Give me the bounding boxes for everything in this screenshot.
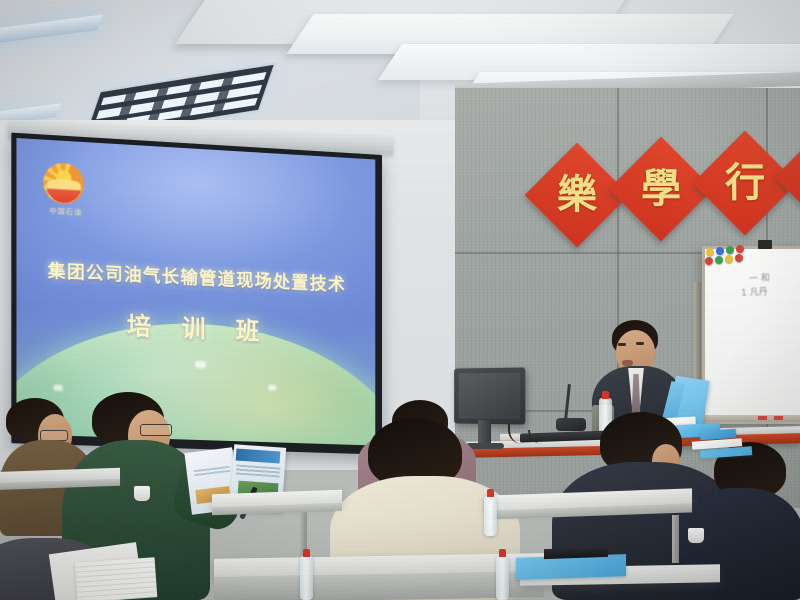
placard-char: 行 — [708, 146, 782, 220]
eyeglasses-icon — [140, 424, 172, 436]
whiteboard-magnet[interactable] — [725, 255, 733, 263]
cnpc-logo: 中国石油 — [43, 162, 86, 217]
whiteboard-magnet[interactable] — [735, 254, 743, 262]
water-bottle[interactable] — [484, 496, 497, 536]
whiteboard: 一 和 1 凡丹 — [702, 246, 800, 424]
cnpc-sunburst-icon — [43, 162, 84, 205]
whiteboard-marker-tray — [700, 415, 800, 422]
wall-placard-le: 樂 — [525, 143, 630, 248]
training-room-photo: 中国石油 集团公司油气长输管道现场处置技术 培 训 班 樂 學 行 樂 一 和 … — [0, 0, 800, 600]
whiteboard-clip — [758, 240, 772, 249]
water-bottle[interactable] — [300, 556, 313, 600]
whiteboard-magnet[interactable] — [705, 257, 713, 265]
whiteboard-magnet[interactable] — [715, 256, 723, 264]
whiteboard-magnet[interactable] — [706, 248, 714, 256]
slide-highlight — [195, 361, 206, 368]
microphone-base[interactable] — [556, 418, 586, 431]
water-bottle[interactable] — [496, 556, 509, 600]
lcd-monitor[interactable] — [454, 367, 525, 424]
paper-cup[interactable] — [134, 486, 150, 501]
slide-highlight — [53, 385, 62, 391]
wall-placard-xue: 學 — [609, 137, 714, 242]
attendee-suit — [676, 488, 800, 600]
whiteboard-magnet[interactable] — [736, 245, 744, 253]
projected-slide: 中国石油 集团公司油气长输管道现场处置技术 培 训 班 — [16, 138, 375, 446]
audience-table-leg — [672, 515, 679, 563]
projection-screen: 中国石油 集团公司油气长输管道现场处置技术 培 训 班 — [11, 133, 382, 455]
presenter-eye — [618, 343, 626, 346]
slide-highlight — [268, 385, 276, 391]
whiteboard-note-1: 一 和 — [749, 270, 771, 284]
paper-cup[interactable] — [688, 528, 704, 543]
whiteboard-magnet[interactable] — [716, 247, 724, 255]
presenter-eye — [636, 342, 644, 345]
placard-char: 樂 — [790, 140, 800, 214]
whiteboard-note-2: 1 凡丹 — [741, 284, 768, 298]
front-table-edge — [214, 571, 544, 600]
handout-papers-lines[interactable] — [75, 557, 158, 600]
placard-char: 樂 — [540, 158, 614, 232]
placard-char: 學 — [624, 152, 698, 226]
whiteboard-magnet[interactable] — [726, 246, 734, 254]
